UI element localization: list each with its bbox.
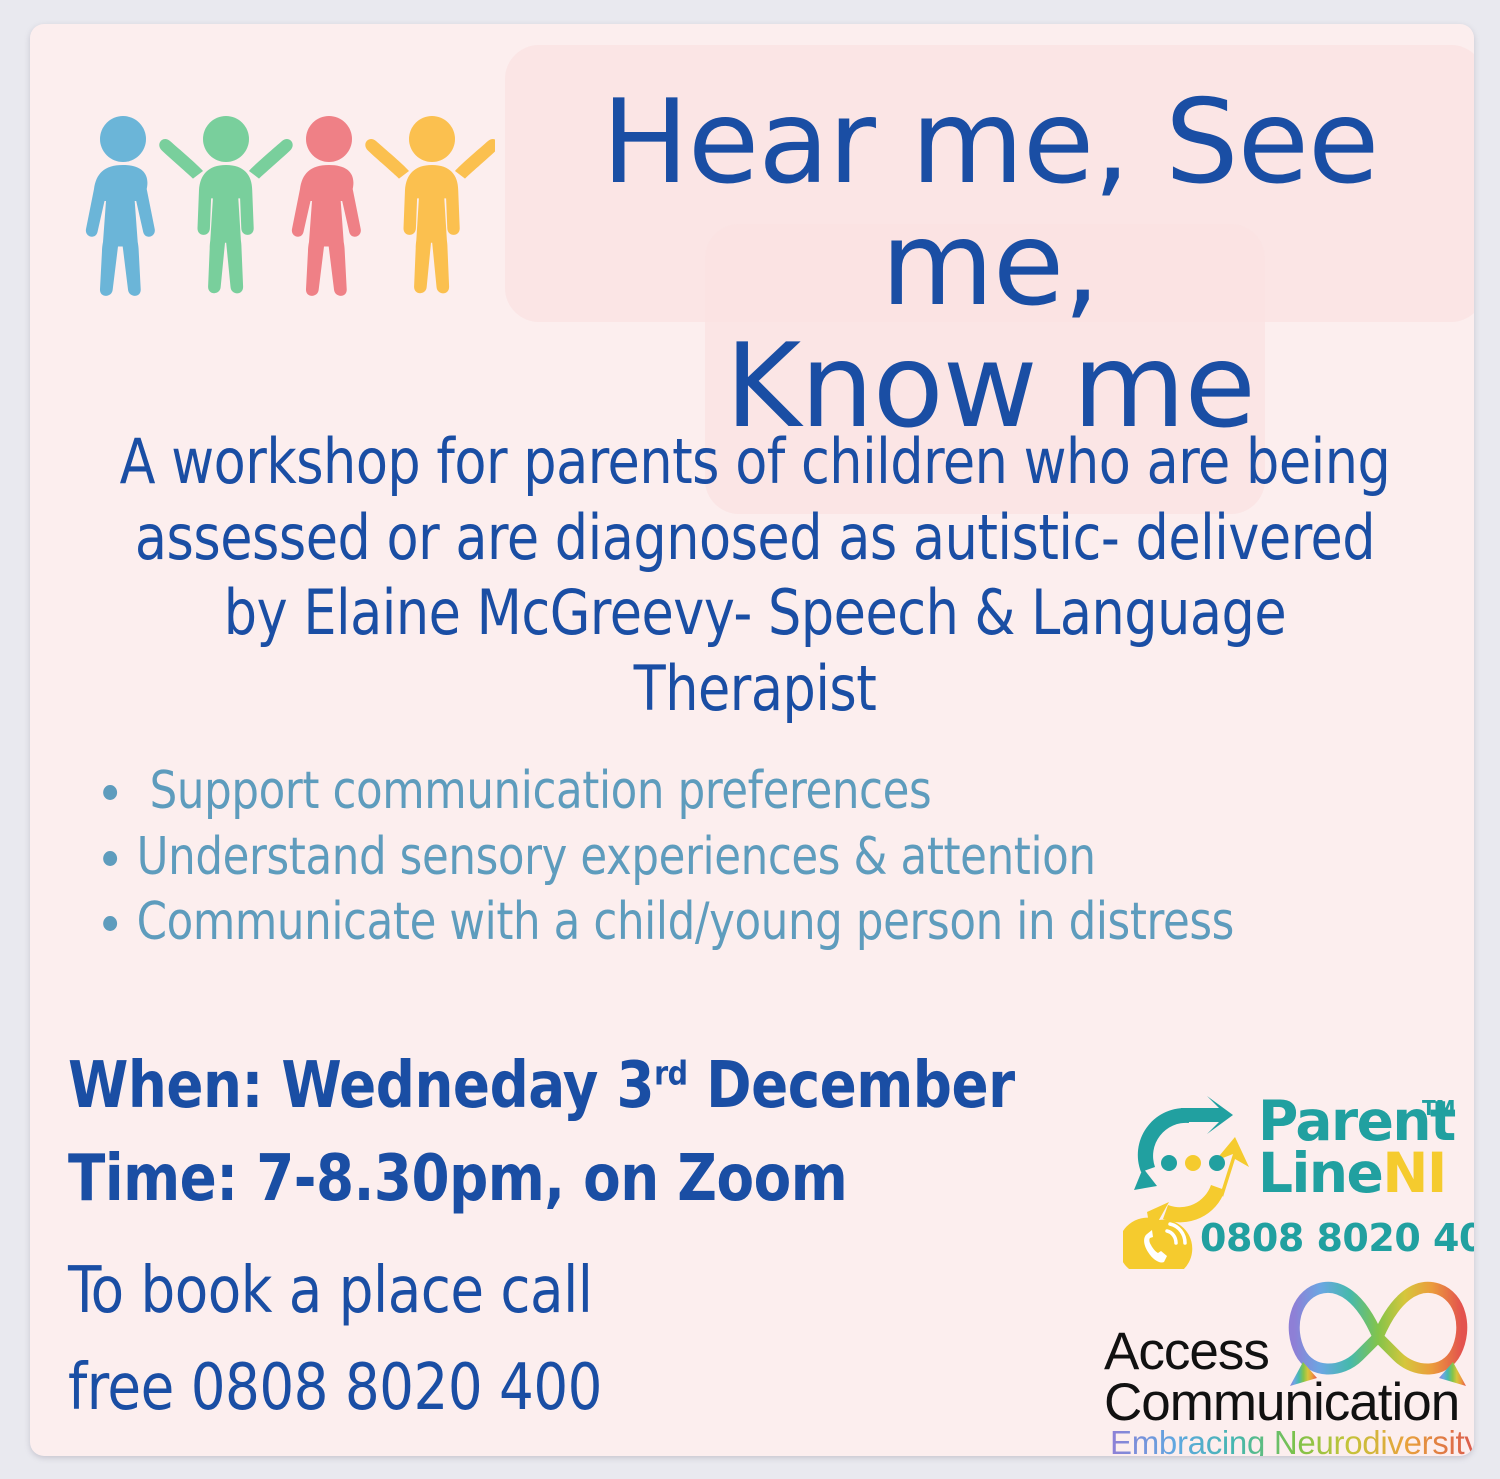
when-line: When: Wedneday 3rd December (68, 1049, 1015, 1123)
list-item: Support communication preferences (92, 759, 1366, 825)
person-green-arms-up (159, 116, 292, 293)
dot-2 (1185, 1155, 1201, 1171)
when-ordinal: rd (654, 1054, 687, 1093)
when-suffix: December (688, 1049, 1015, 1123)
parentline-swoosh-icon (1134, 1096, 1249, 1234)
booking-line-1: To book a place call (68, 1254, 593, 1328)
parentline-phone-pin-icon (1123, 1218, 1192, 1269)
access-logo-tagline: Embracing Neurodiversity (1110, 1424, 1474, 1456)
person-blue-arms-down (86, 116, 155, 296)
dot-3 (1209, 1155, 1225, 1171)
booking-line-2: free 0808 8020 400 (68, 1351, 602, 1425)
parentline-phone-number: 0808 8020 400 (1200, 1216, 1474, 1260)
list-item: Understand sensory experiences & attenti… (92, 825, 1366, 891)
poster-card: Hear me, See me, Know me A workshop for … (30, 24, 1474, 1456)
parentline-name-2a: Line (1258, 1141, 1382, 1205)
time-line: Time: 7-8.30pm, on Zoom (68, 1142, 847, 1216)
workshop-description: A workshop for parents of children who a… (106, 424, 1403, 727)
page-title: Hear me, See me, Know me (510, 82, 1470, 447)
person-yellow-arms-up (365, 116, 495, 293)
when-prefix: When: Wedneday 3 (68, 1049, 654, 1123)
trademark-symbol: TM (1422, 1096, 1456, 1120)
list-item: Communicate with a child/young person in… (92, 890, 1366, 956)
parentline-name-2b: NI (1382, 1141, 1446, 1205)
workshop-topics-list: Support communication preferences Unders… (92, 759, 1462, 956)
people-icons-group (75, 109, 495, 299)
dot-1 (1161, 1155, 1177, 1171)
person-red-arms-down (292, 116, 361, 296)
